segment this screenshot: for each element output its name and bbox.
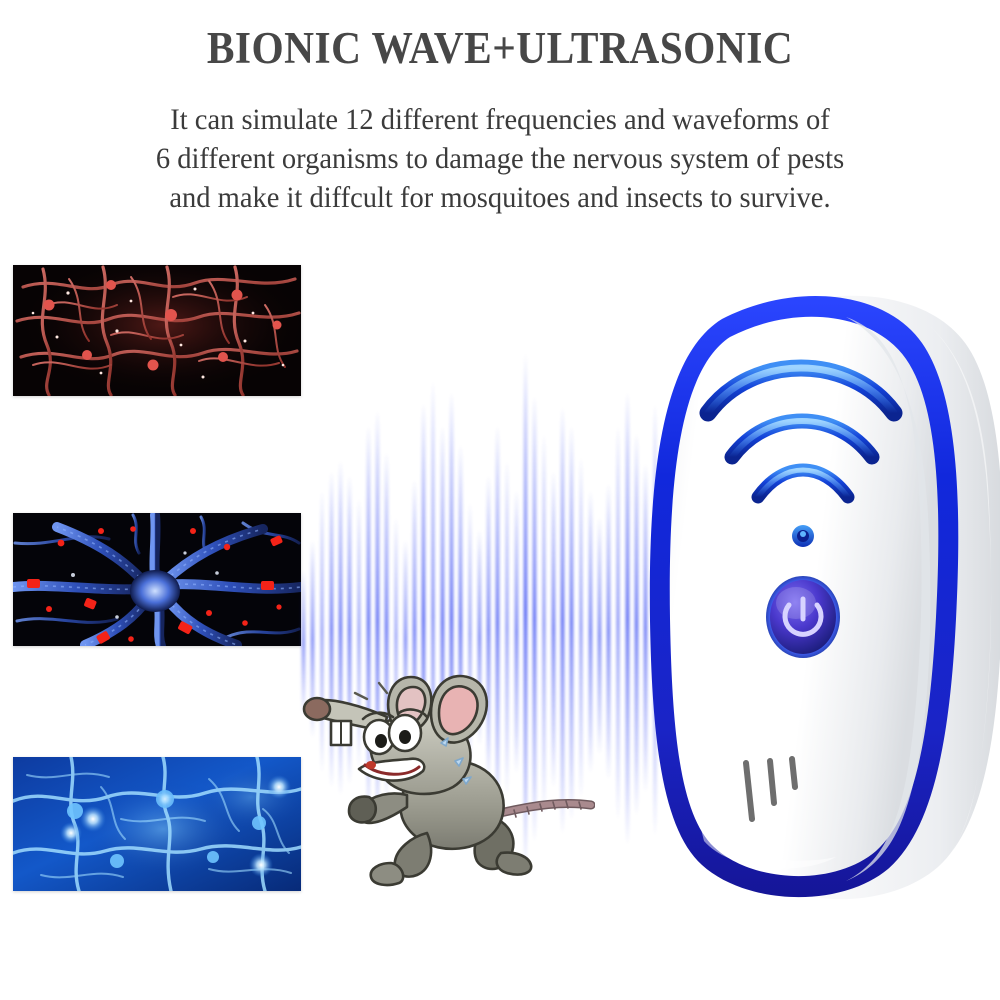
- description-line-1: It can simulate 12 different frequencies…: [77, 100, 923, 139]
- power-button: [766, 576, 840, 658]
- product-marketing-banner: BIONIC WAVE+ULTRASONIC It can simulate 1…: [0, 0, 1000, 1000]
- image-red-neuron-network: [13, 265, 301, 396]
- ultrasonic-pest-repeller: [600, 285, 1000, 910]
- description-line-2: 6 different organisms to damage the nerv…: [77, 139, 923, 178]
- image-blue-neuron-closeup: [13, 513, 301, 646]
- status-led: [792, 525, 814, 547]
- page-title: BIONIC WAVE+ULTRASONIC: [40, 22, 960, 74]
- description-line-3: and make it diffcult for mosquitoes and …: [77, 178, 923, 217]
- image-glowing-blue-neurons: [13, 757, 301, 891]
- description-text: It can simulate 12 different frequencies…: [77, 100, 923, 217]
- cartoon-mouse: [295, 665, 595, 895]
